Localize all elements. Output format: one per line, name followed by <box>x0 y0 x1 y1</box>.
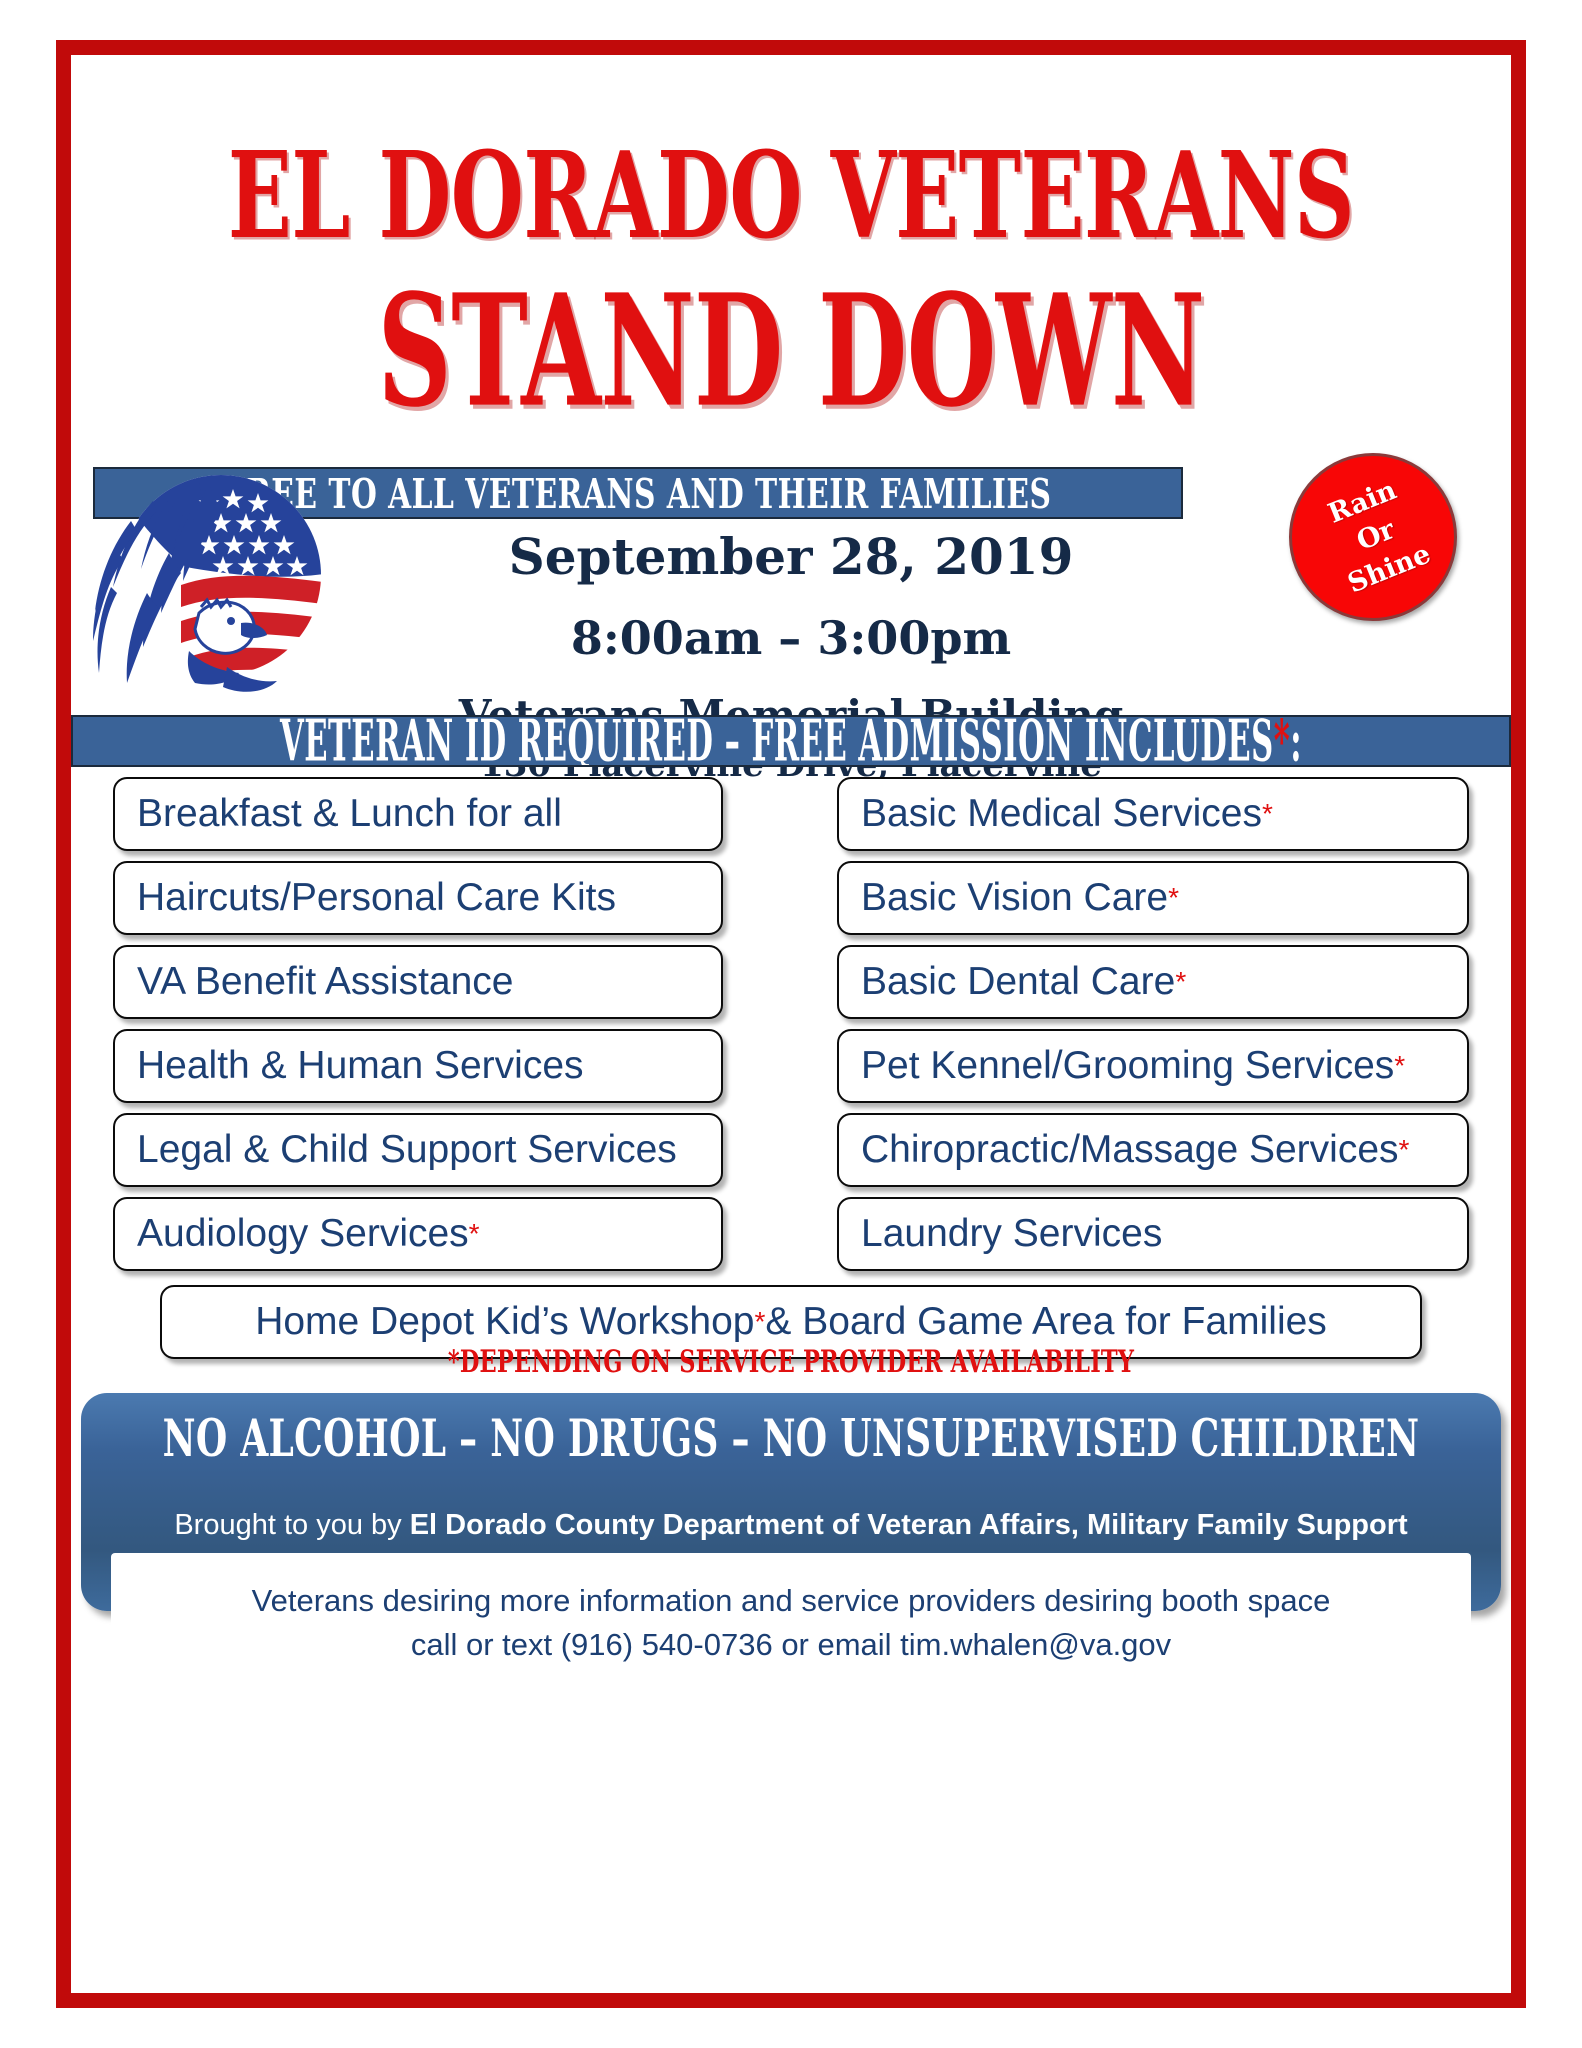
availability-footnote: *DEPENDING ON SERVICE PROVIDER AVAILABIL… <box>71 1347 1511 1376</box>
event-date: September 28, 2019 <box>371 527 1211 586</box>
service-box: Haircuts/Personal Care Kits <box>113 861 723 935</box>
service-box: Legal & Child Support Services <box>113 1113 723 1187</box>
service-box: Pet Kennel/Grooming Services* <box>837 1029 1469 1103</box>
services-list: Breakfast & Lunch for all Basic Medical … <box>71 777 1511 1359</box>
service-box: Basic Vision Care* <box>837 861 1469 935</box>
service-label-part1: Home Depot Kid’s Workshop <box>255 1300 754 1344</box>
service-label-part2: & Board Game Area for Families <box>765 1300 1326 1344</box>
service-box: VA Benefit Assistance <box>113 945 723 1019</box>
service-label: Basic Dental Care <box>861 960 1175 1004</box>
page-title-line1: EL DORADO VETERANS <box>28 133 1554 257</box>
service-row: Haircuts/Personal Care Kits Basic Vision… <box>71 861 1511 935</box>
service-label: Haircuts/Personal Care Kits <box>137 876 616 920</box>
poster-canvas: EL DORADO VETERANS STAND DOWN FREE TO AL… <box>0 0 1582 2048</box>
service-label: VA Benefit Assistance <box>137 960 514 1004</box>
banner-free-label: FREE TO ALL VETERANS AND THEIR FAMILIES <box>225 467 1052 519</box>
banner-id-group: VETERAN ID REQUIRED – FREE ADMISSION INC… <box>280 715 1302 767</box>
service-label: Basic Vision Care <box>861 876 1168 920</box>
service-box: Chiropractic/Massage Services* <box>837 1113 1469 1187</box>
poster-content: EL DORADO VETERANS STAND DOWN FREE TO AL… <box>71 55 1511 1993</box>
service-box: Basic Dental Care* <box>837 945 1469 1019</box>
service-label: Pet Kennel/Grooming Services <box>861 1044 1394 1088</box>
page-title-line2: STAND DOWN <box>42 273 1540 430</box>
availability-footnote-label: *DEPENDING ON SERVICE PROVIDER AVAILABIL… <box>448 1343 1134 1379</box>
no-rules-label: NO ALCOHOL – NO DRUGS – NO UNSUPERVISED … <box>163 1408 1420 1468</box>
no-rules-banner: NO ALCOHOL – NO DRUGS – NO UNSUPERVISED … <box>81 1415 1501 1462</box>
contact-info-box: Veterans desiring more information and s… <box>111 1553 1471 1697</box>
rain-or-shine-text: Rain Or Shine <box>1278 454 1474 617</box>
service-label: Legal & Child Support Services <box>137 1128 677 1172</box>
service-row: VA Benefit Assistance Basic Dental Care* <box>71 945 1511 1019</box>
service-row: Audiology Services* Laundry Services <box>71 1197 1511 1271</box>
service-box: Breakfast & Lunch for all <box>113 777 723 851</box>
banner-id-label: VETERAN ID REQUIRED – FREE ADMISSION INC… <box>280 715 1274 767</box>
eagle-american-flag-logo <box>81 455 331 705</box>
brought-prefix: Brought to you by <box>174 1509 409 1541</box>
contact-line-2: call or text (916) 540-0736 or email tim… <box>111 1623 1471 1667</box>
contact-line-1: Veterans desiring more information and s… <box>111 1579 1471 1623</box>
banner-id-colon: : <box>1290 715 1302 767</box>
service-label: Basic Medical Services <box>861 792 1262 836</box>
banner-id-asterisk-icon: * <box>1274 715 1291 767</box>
service-label: Laundry Services <box>861 1212 1162 1256</box>
service-box: Laundry Services <box>837 1197 1469 1271</box>
service-box: Audiology Services* <box>113 1197 723 1271</box>
service-label: Health & Human Services <box>137 1044 584 1088</box>
service-box: Basic Medical Services* <box>837 777 1469 851</box>
service-box: Health & Human Services <box>113 1029 723 1103</box>
service-row: Breakfast & Lunch for all Basic Medical … <box>71 777 1511 851</box>
contact-info-text: Veterans desiring more information and s… <box>111 1579 1471 1667</box>
service-label: Audiology Services <box>137 1212 469 1256</box>
rain-or-shine-badge: Rain Or Shine <box>1289 453 1457 621</box>
service-label: Chiropractic/Massage Services <box>861 1128 1399 1172</box>
event-time: 8:00am – 3:00pm <box>371 611 1211 665</box>
service-row: Legal & Child Support Services Chiroprac… <box>71 1113 1511 1187</box>
service-row: Health & Human Services Pet Kennel/Groom… <box>71 1029 1511 1103</box>
banner-veteran-id-required: VETERAN ID REQUIRED – FREE ADMISSION INC… <box>71 715 1511 767</box>
service-label: Breakfast & Lunch for all <box>137 792 562 836</box>
